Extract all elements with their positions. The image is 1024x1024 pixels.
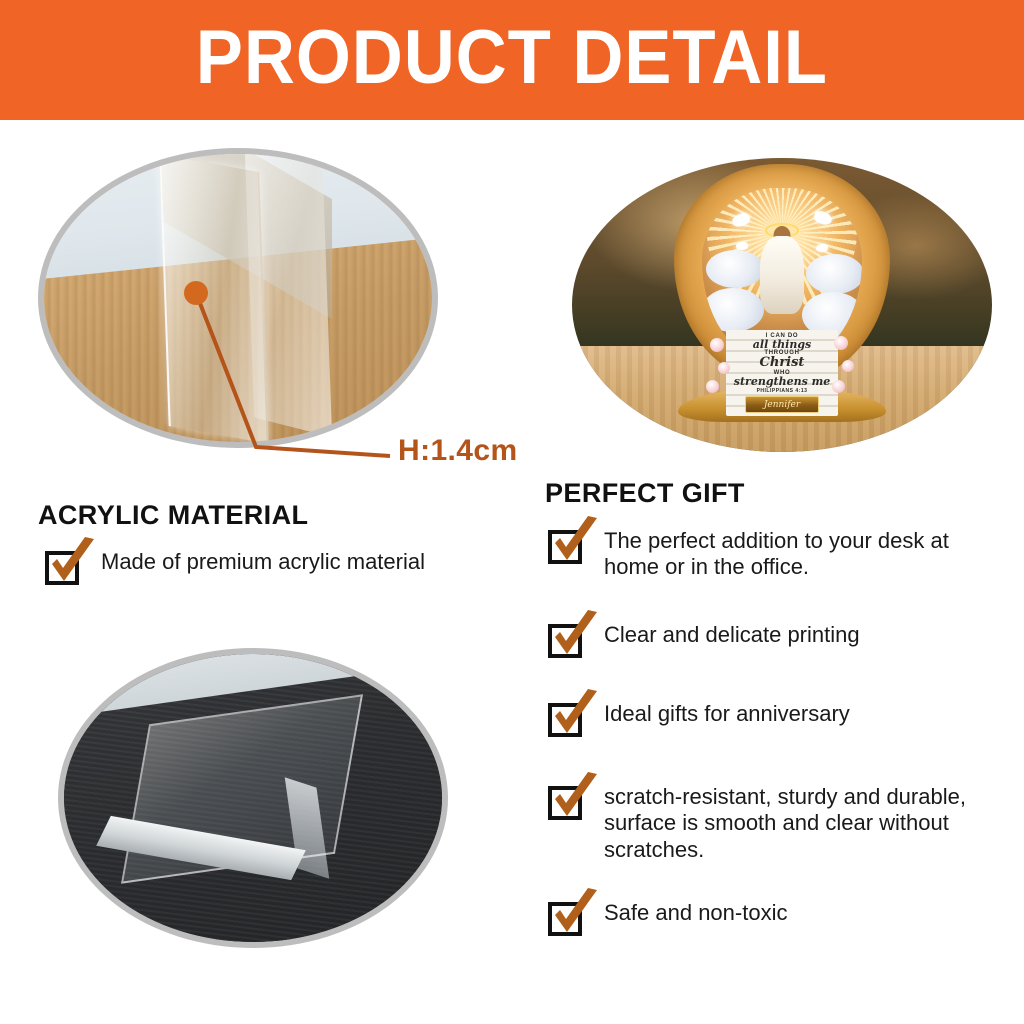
keepsake-ornament: I CAN DO all things THROUGH Christ WHO s… [666, 162, 898, 430]
checkmark-icon [548, 782, 586, 820]
blossom-6 [832, 380, 845, 393]
dove-lower-left [736, 242, 748, 250]
blossom-4 [834, 336, 848, 350]
page-title: PRODUCT DETAIL [196, 20, 828, 96]
checkmark-icon [548, 526, 586, 564]
scripture-line-2: all things [726, 339, 838, 350]
header-banner: PRODUCT DETAIL [0, 0, 1024, 120]
list-item-label: Ideal gifts for anniversary [604, 701, 850, 727]
blossom-1 [710, 338, 724, 352]
cloud-bottom-left [702, 288, 764, 332]
list-item-label: Safe and non-toxic [604, 900, 787, 926]
list-item-label: Clear and delicate printing [604, 622, 860, 648]
list-item-label: Made of premium acrylic material [101, 549, 425, 575]
blossom-2 [718, 362, 730, 374]
list-item: Ideal gifts for anniversary [548, 697, 996, 737]
list-item: Clear and delicate printing [548, 618, 996, 658]
list-item: The perfect addition to your desk at hom… [548, 524, 996, 581]
scripture-line-6: strengthens me [726, 376, 838, 387]
acrylic-material-heading: ACRYLIC MATERIAL [38, 500, 308, 531]
perfect-gift-heading: PERFECT GIFT [545, 478, 745, 509]
jesus-figure-robe [760, 236, 804, 314]
acrylic-edge-photo [38, 148, 438, 448]
checkmark-icon [548, 620, 586, 658]
list-item-label: scratch-resistant, sturdy and durable, s… [604, 784, 1003, 863]
scripture-line-4: Christ [726, 356, 838, 369]
acrylic-block-photo [58, 648, 448, 948]
blossom-5 [842, 360, 854, 372]
scripture-reference: PHILIPPIANS 4:13 [726, 389, 838, 394]
list-item: Safe and non-toxic [548, 896, 996, 936]
list-item: scratch-resistant, sturdy and durable, s… [548, 780, 1003, 863]
personalized-name-text: Jennifer [764, 400, 800, 410]
list-item: Made of premium acrylic material [45, 545, 515, 585]
keepsake-product-photo: I CAN DO all things THROUGH Christ WHO s… [572, 158, 992, 452]
measurement-point-dot [184, 281, 208, 305]
personalized-nameplate: Jennifer [745, 396, 819, 413]
checkmark-icon [45, 547, 83, 585]
cloud-right [806, 254, 862, 294]
height-measurement-label: H:1.4cm [398, 434, 518, 468]
blossom-3 [706, 380, 719, 393]
checkmark-icon [548, 699, 586, 737]
cloud-left [706, 250, 764, 288]
list-item-label: The perfect addition to your desk at hom… [604, 528, 996, 581]
scripture-plaque: I CAN DO all things THROUGH Christ WHO s… [726, 330, 838, 416]
dove-lower-right [816, 244, 828, 252]
acrylic-edge-front-panel [159, 154, 268, 444]
checkmark-icon [548, 898, 586, 936]
